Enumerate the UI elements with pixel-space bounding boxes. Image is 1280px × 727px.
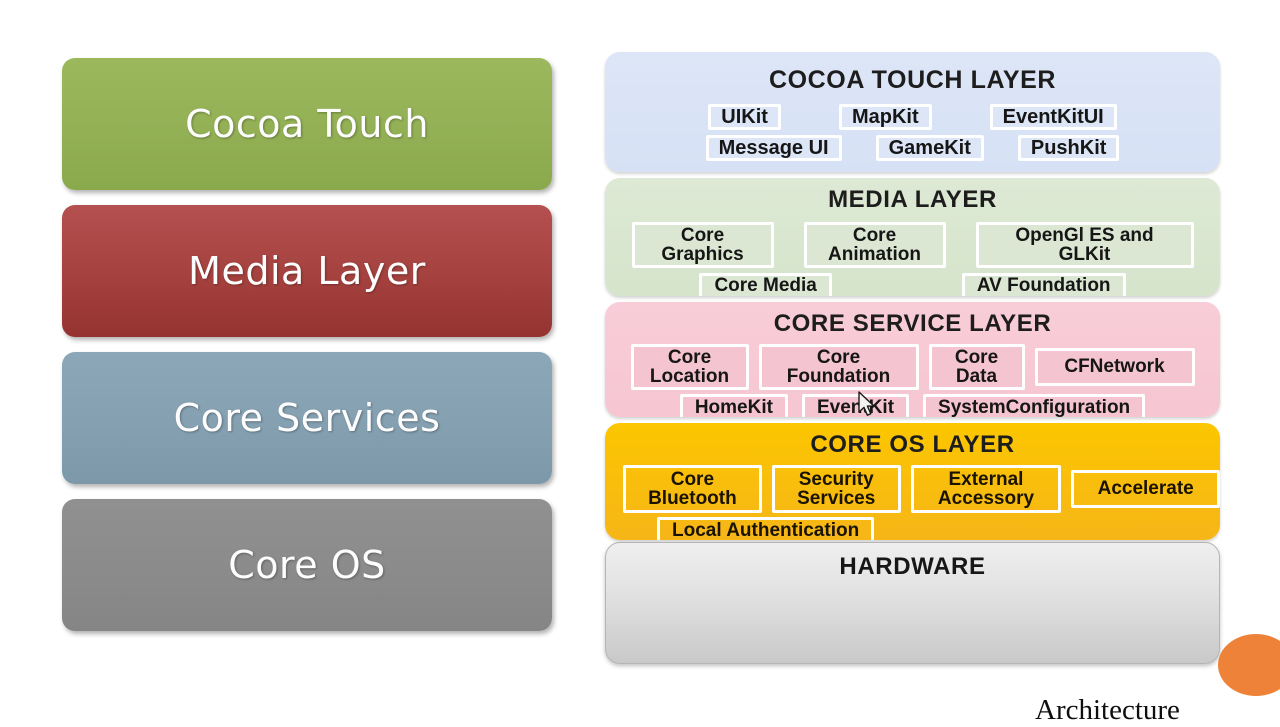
framework-row: Message UI GameKit PushKit: [605, 135, 1220, 161]
framework-row: Local Authentication: [605, 517, 1220, 540]
stack-block-label: Media Layer: [188, 249, 426, 293]
framework-row: Core Media AV Foundation: [605, 273, 1220, 296]
stack-block-cocoa-touch[interactable]: Cocoa Touch: [62, 58, 552, 190]
stack-block-label: Core Services: [174, 396, 441, 440]
layer-core-os[interactable]: CORE OS LAYER Core Bluetooth Security Se…: [605, 423, 1220, 540]
framework-chip-uikit[interactable]: UIKit: [708, 104, 781, 130]
stack-block-label: Cocoa Touch: [185, 102, 429, 146]
layer-cocoa-touch[interactable]: COCOA TOUCH LAYER UIKit MapKit EventKitU…: [605, 52, 1220, 172]
framework-chip-pushkit[interactable]: PushKit: [1018, 135, 1120, 161]
framework-chip-opengl-es-glkit[interactable]: OpenGl ES and GLKit: [976, 222, 1194, 268]
left-layer-stack: Cocoa Touch Media Layer Core Services Co…: [62, 58, 552, 638]
layer-title: CORE SERVICE LAYER: [605, 302, 1220, 338]
framework-chip-mapkit[interactable]: MapKit: [839, 104, 932, 130]
framework-row: Core Bluetooth Security Services Externa…: [605, 465, 1220, 513]
right-framework-stack: COCOA TOUCH LAYER UIKit MapKit EventKitU…: [605, 52, 1220, 667]
framework-chip-systemconfiguration[interactable]: SystemConfiguration: [923, 394, 1145, 417]
framework-row: HomeKit EventKit SystemConfiguration: [605, 394, 1220, 417]
layer-title: CORE OS LAYER: [605, 423, 1220, 459]
framework-chip-core-data[interactable]: Core Data: [929, 344, 1025, 390]
framework-chip-gamekit[interactable]: GameKit: [876, 135, 984, 161]
framework-chip-cfnetwork[interactable]: CFNetwork: [1035, 348, 1195, 386]
layer-media[interactable]: MEDIA LAYER Core Graphics Core Animation…: [605, 178, 1220, 296]
framework-row: Core Location Core Foundation Core Data …: [605, 344, 1220, 390]
stack-block-label: Core OS: [228, 543, 386, 587]
framework-chip-core-bluetooth[interactable]: Core Bluetooth: [623, 465, 762, 513]
framework-row: Core Graphics Core Animation OpenGl ES a…: [605, 222, 1220, 268]
layer-hardware[interactable]: HARDWARE: [605, 542, 1220, 664]
framework-chip-homekit[interactable]: HomeKit: [680, 394, 788, 417]
layer-title: MEDIA LAYER: [605, 178, 1220, 214]
framework-chip-av-foundation[interactable]: AV Foundation: [962, 273, 1126, 296]
framework-chip-local-authentication[interactable]: Local Authentication: [657, 517, 874, 540]
orange-accent-ellipse: [1218, 634, 1280, 696]
framework-chip-core-animation[interactable]: Core Animation: [804, 222, 946, 268]
framework-chip-core-graphics[interactable]: Core Graphics: [632, 222, 774, 268]
framework-chip-core-location[interactable]: Core Location: [631, 344, 749, 390]
footer-caption: Architecture: [1035, 694, 1180, 727]
stack-block-core-services[interactable]: Core Services: [62, 352, 552, 484]
layer-title: HARDWARE: [606, 543, 1219, 581]
framework-chip-core-media[interactable]: Core Media: [699, 273, 831, 296]
framework-chip-eventkit[interactable]: EventKit: [802, 394, 909, 417]
stack-block-core-os[interactable]: Core OS: [62, 499, 552, 631]
framework-chip-core-foundation[interactable]: Core Foundation: [759, 344, 919, 390]
layer-title: COCOA TOUCH LAYER: [605, 52, 1220, 95]
framework-chip-eventkitui[interactable]: EventKitUI: [990, 104, 1117, 130]
framework-chip-security-services[interactable]: Security Services: [772, 465, 901, 513]
framework-row: UIKit MapKit EventKitUI: [605, 104, 1220, 130]
layer-core-service[interactable]: CORE SERVICE LAYER Core Location Core Fo…: [605, 302, 1220, 417]
stack-block-media-layer[interactable]: Media Layer: [62, 205, 552, 337]
slide-canvas: Cocoa Touch Media Layer Core Services Co…: [0, 0, 1280, 720]
framework-chip-message-ui[interactable]: Message UI: [706, 135, 842, 161]
framework-chip-external-accessory[interactable]: External Accessory: [911, 465, 1062, 513]
framework-chip-accelerate[interactable]: Accelerate: [1071, 470, 1220, 508]
